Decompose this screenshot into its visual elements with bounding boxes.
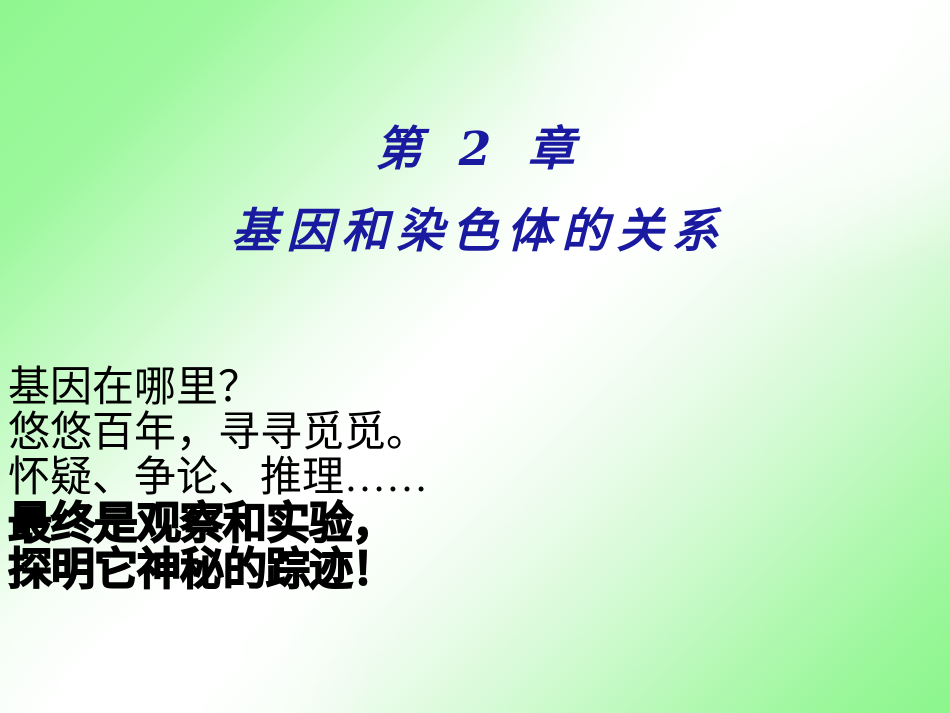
slide-body-block: 基因在哪里？ 悠悠百年，寻寻觅觅。 怀疑、争论、推理…… 最终是观察和实验， 探… <box>8 366 938 593</box>
body-line-4: 最终是观察和实验， <box>8 501 938 547</box>
body-line-2: 悠悠百年，寻寻觅觅。 <box>8 411 938 456</box>
body-line-5: 探明它神秘的踪迹！ <box>8 547 938 593</box>
chapter-subject-title: 基因和染色体的关系 <box>0 208 950 255</box>
presentation-slide: 第 2 章 基因和染色体的关系 基因在哪里？ 悠悠百年，寻寻觅觅。 怀疑、争论、… <box>0 0 950 713</box>
body-line-3: 怀疑、争论、推理…… <box>8 456 938 501</box>
slide-title-block: 第 2 章 基因和染色体的关系 <box>0 126 950 255</box>
chapter-number-title: 第 2 章 <box>0 126 950 173</box>
body-line-1: 基因在哪里？ <box>8 366 938 411</box>
